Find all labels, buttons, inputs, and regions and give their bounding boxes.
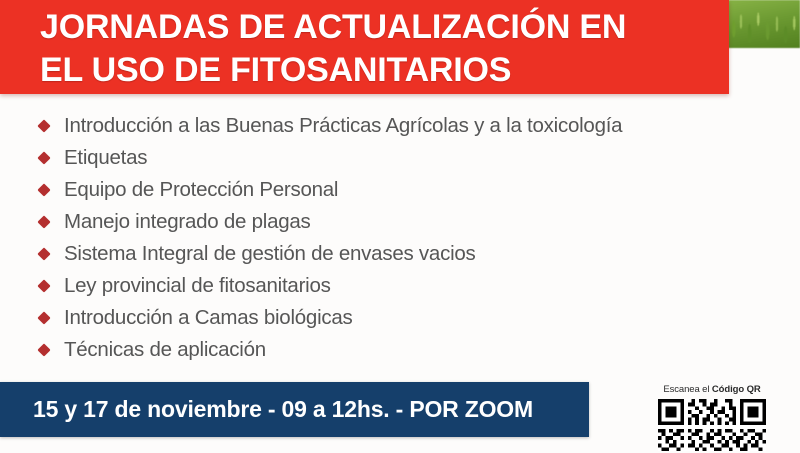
grass-photo: [728, 0, 800, 48]
qr-caption: Escanea el Código QR: [649, 384, 775, 396]
list-item: Introducción a las Buenas Prácticas Agrí…: [0, 110, 760, 142]
list-item: Ley provincial de fitosanitarios: [0, 270, 760, 302]
diamond-bullet-icon: [37, 311, 50, 324]
topic-label: Etiquetas: [64, 146, 147, 170]
diamond-bullet-icon: [37, 183, 50, 196]
topic-label: Técnicas de aplicación: [64, 338, 266, 362]
page-title-line-2: EL USO DE FITOSANITARIOS: [0, 49, 729, 92]
diamond-bullet-icon: [37, 215, 50, 228]
list-item: Técnicas de aplicación: [0, 334, 760, 366]
qr-caption-prefix: Escanea el: [663, 384, 712, 395]
list-item: Manejo integrado de plagas: [0, 206, 760, 238]
topic-label: Manejo integrado de plagas: [64, 210, 311, 234]
list-item: Sistema Integral de gestión de envases v…: [0, 238, 760, 270]
topic-label: Introducción a Camas biológicas: [64, 306, 353, 330]
list-item: Etiquetas: [0, 142, 760, 174]
topic-list: Introducción a las Buenas Prácticas Agrí…: [0, 110, 760, 366]
page-title-line-1: JORNADAS DE ACTUALIZACIÓN EN: [0, 0, 729, 49]
date-bar-label: 15 y 17 de noviembre - 09 a 12hs. - POR …: [0, 396, 533, 423]
topic-label: Sistema Integral de gestión de envases v…: [64, 242, 476, 266]
qr-block: Escanea el Código QR: [649, 384, 775, 453]
diamond-bullet-icon: [37, 119, 50, 132]
topic-label: Ley provincial de fitosanitarios: [64, 274, 331, 298]
title-banner: JORNADAS DE ACTUALIZACIÓN EN EL USO DE F…: [0, 0, 729, 94]
diamond-bullet-icon: [37, 279, 50, 292]
topic-label: Equipo de Protección Personal: [64, 178, 338, 202]
qr-code-image[interactable]: [658, 399, 766, 451]
diamond-bullet-icon: [37, 151, 50, 164]
list-item: Equipo de Protección Personal: [0, 174, 760, 206]
diamond-bullet-icon: [37, 247, 50, 260]
diamond-bullet-icon: [37, 343, 50, 356]
list-item: Introducción a Camas biológicas: [0, 302, 760, 334]
date-bar: 15 y 17 de noviembre - 09 a 12hs. - POR …: [0, 382, 589, 437]
qr-caption-strong: Código QR: [712, 384, 761, 395]
topic-label: Introducción a las Buenas Prácticas Agrí…: [64, 114, 622, 138]
poster-canvas: JORNADAS DE ACTUALIZACIÓN EN EL USO DE F…: [0, 0, 800, 453]
